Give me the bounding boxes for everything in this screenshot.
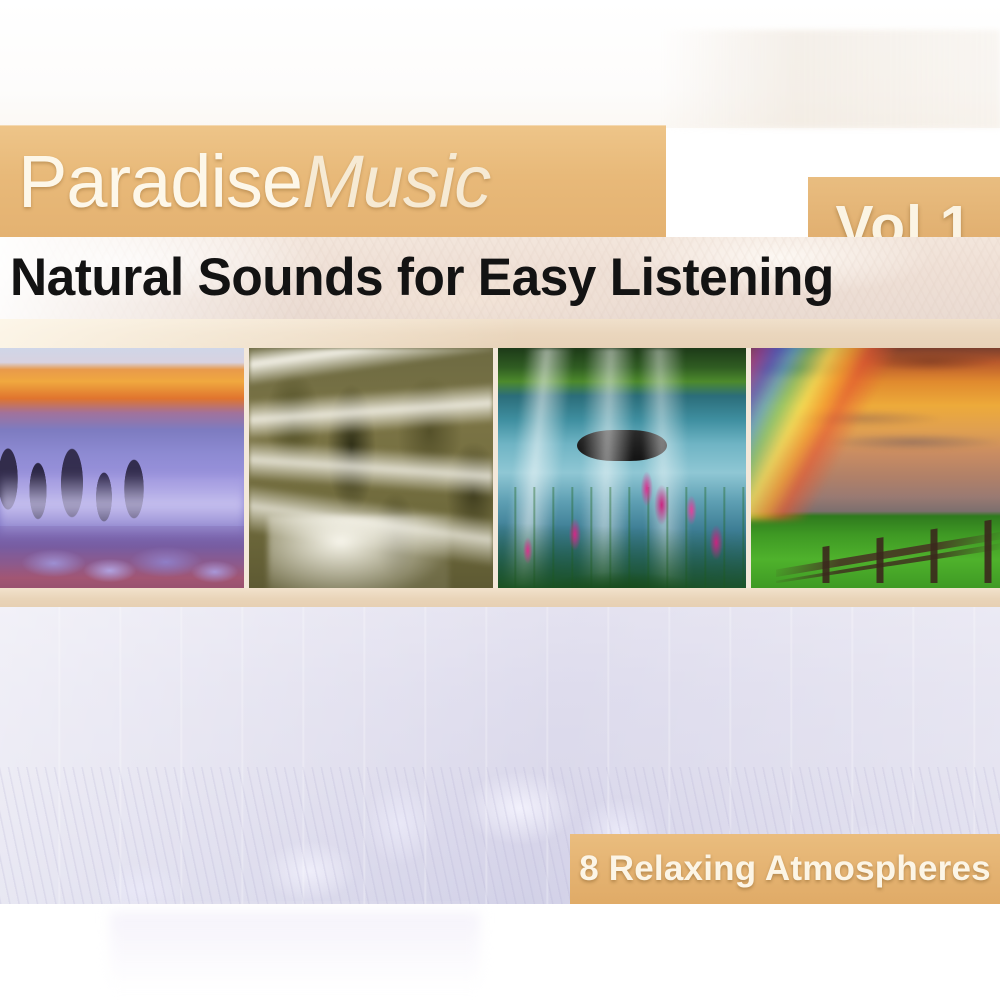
album-subtitle: Natural Sounds for Easy Listening — [10, 240, 834, 316]
tagline-text: 8 Relaxing Atmospheres — [579, 849, 991, 889]
mountain-lake-image — [0, 348, 244, 588]
waterfall-pool — [268, 516, 448, 588]
shore-rocks — [0, 526, 244, 588]
river-rapids-image — [498, 348, 747, 588]
photo-strip — [0, 348, 1000, 588]
fireweed-flowers — [498, 454, 747, 588]
top-white-area — [0, 0, 1000, 128]
photo-panel-waterfall-mossy-rocks — [249, 348, 493, 588]
brand-primary-text: Paradise — [18, 140, 302, 223]
photo-panel-mountain-lake-sunrise — [0, 348, 244, 588]
rainbow-field-image — [751, 348, 1000, 588]
divider-strip-top — [0, 319, 1000, 348]
bottom-ghost-texture — [110, 912, 480, 992]
divider-strip-bottom — [0, 588, 1000, 608]
photo-panel-rainbow-green-field — [751, 348, 1000, 588]
tagline-banner: 8 Relaxing Atmospheres — [570, 834, 1000, 904]
album-cover: ParadiseMusic Vol 1 Natural Sounds for E… — [0, 0, 1000, 1000]
top-ghost-texture — [660, 30, 1000, 128]
photo-panel-river-rapids-fireweed — [498, 348, 747, 588]
brand-secondary-text: Music — [302, 140, 490, 223]
brand-logo: ParadiseMusic — [18, 128, 490, 236]
waterfall-image — [249, 348, 493, 588]
fence-posts — [776, 511, 1000, 583]
divider-strip-top-sheen — [0, 319, 520, 348]
bottom-white-area — [0, 904, 1000, 1000]
